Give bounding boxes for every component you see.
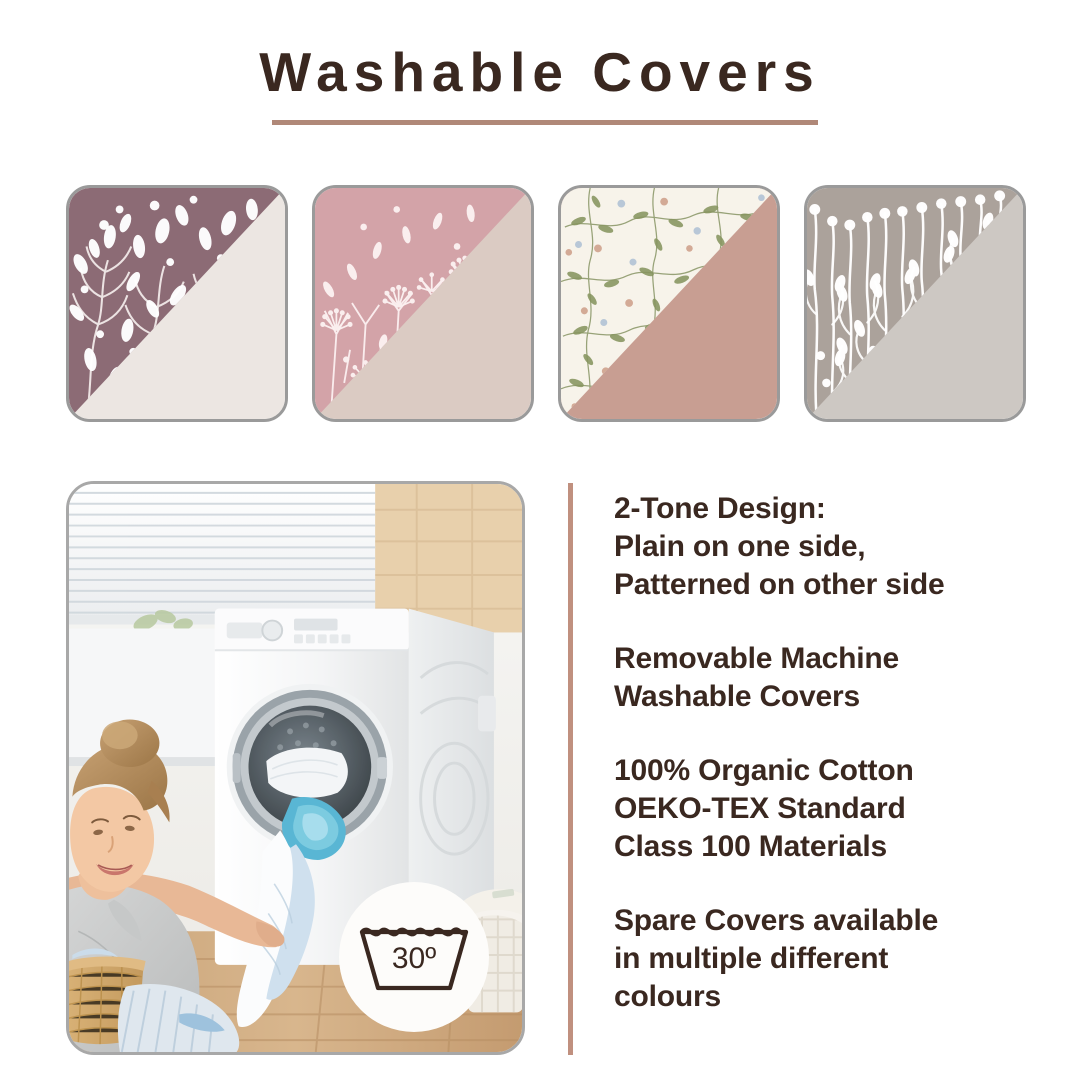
feature-spare-covers: Spare Covers available in multiple diffe… — [614, 902, 1034, 1016]
header: Washable Covers — [0, 0, 1080, 150]
swatch-tile-taupe-meadow[interactable] — [804, 185, 1026, 422]
swatch-row — [66, 185, 1026, 428]
feature-two-tone-design: 2-Tone Design: Plain on one side, Patter… — [614, 490, 1034, 604]
feature-line: 100% Organic Cotton — [614, 752, 1034, 790]
swatch-tile-ivory-ditsy-floral[interactable] — [558, 185, 780, 422]
feature-organic-cotton-oeko-tex: 100% Organic Cotton OEKO-TEX Standard Cl… — [614, 752, 1034, 866]
feature-line: Washable Covers — [614, 678, 1034, 716]
feature-line: OEKO-TEX Standard — [614, 790, 1034, 828]
title-underline — [272, 120, 818, 125]
feature-list: 2-Tone Design: Plain on one side, Patter… — [614, 490, 1034, 1052]
vertical-divider — [568, 483, 573, 1055]
feature-line: Spare Covers available — [614, 902, 1034, 940]
page-title: Washable Covers — [0, 42, 1080, 102]
feature-line: colours — [614, 978, 1034, 1016]
wash-temperature-label: 30º — [339, 882, 489, 1032]
feature-line: Patterned on other side — [614, 566, 1034, 604]
feature-removable-washable: Removable Machine Washable Covers — [614, 640, 1034, 716]
swatch-tile-mauve-floral[interactable] — [66, 185, 288, 422]
swatch-tile-dusty-pink-wildflower[interactable] — [312, 185, 534, 422]
wash-care-badge: 30º — [339, 882, 489, 1032]
feature-line: Plain on one side, — [614, 528, 1034, 566]
feature-line: 2-Tone Design: — [614, 490, 1034, 528]
feature-line: Class 100 Materials — [614, 828, 1034, 866]
feature-line: in multiple different — [614, 940, 1034, 978]
feature-line: Removable Machine — [614, 640, 1034, 678]
